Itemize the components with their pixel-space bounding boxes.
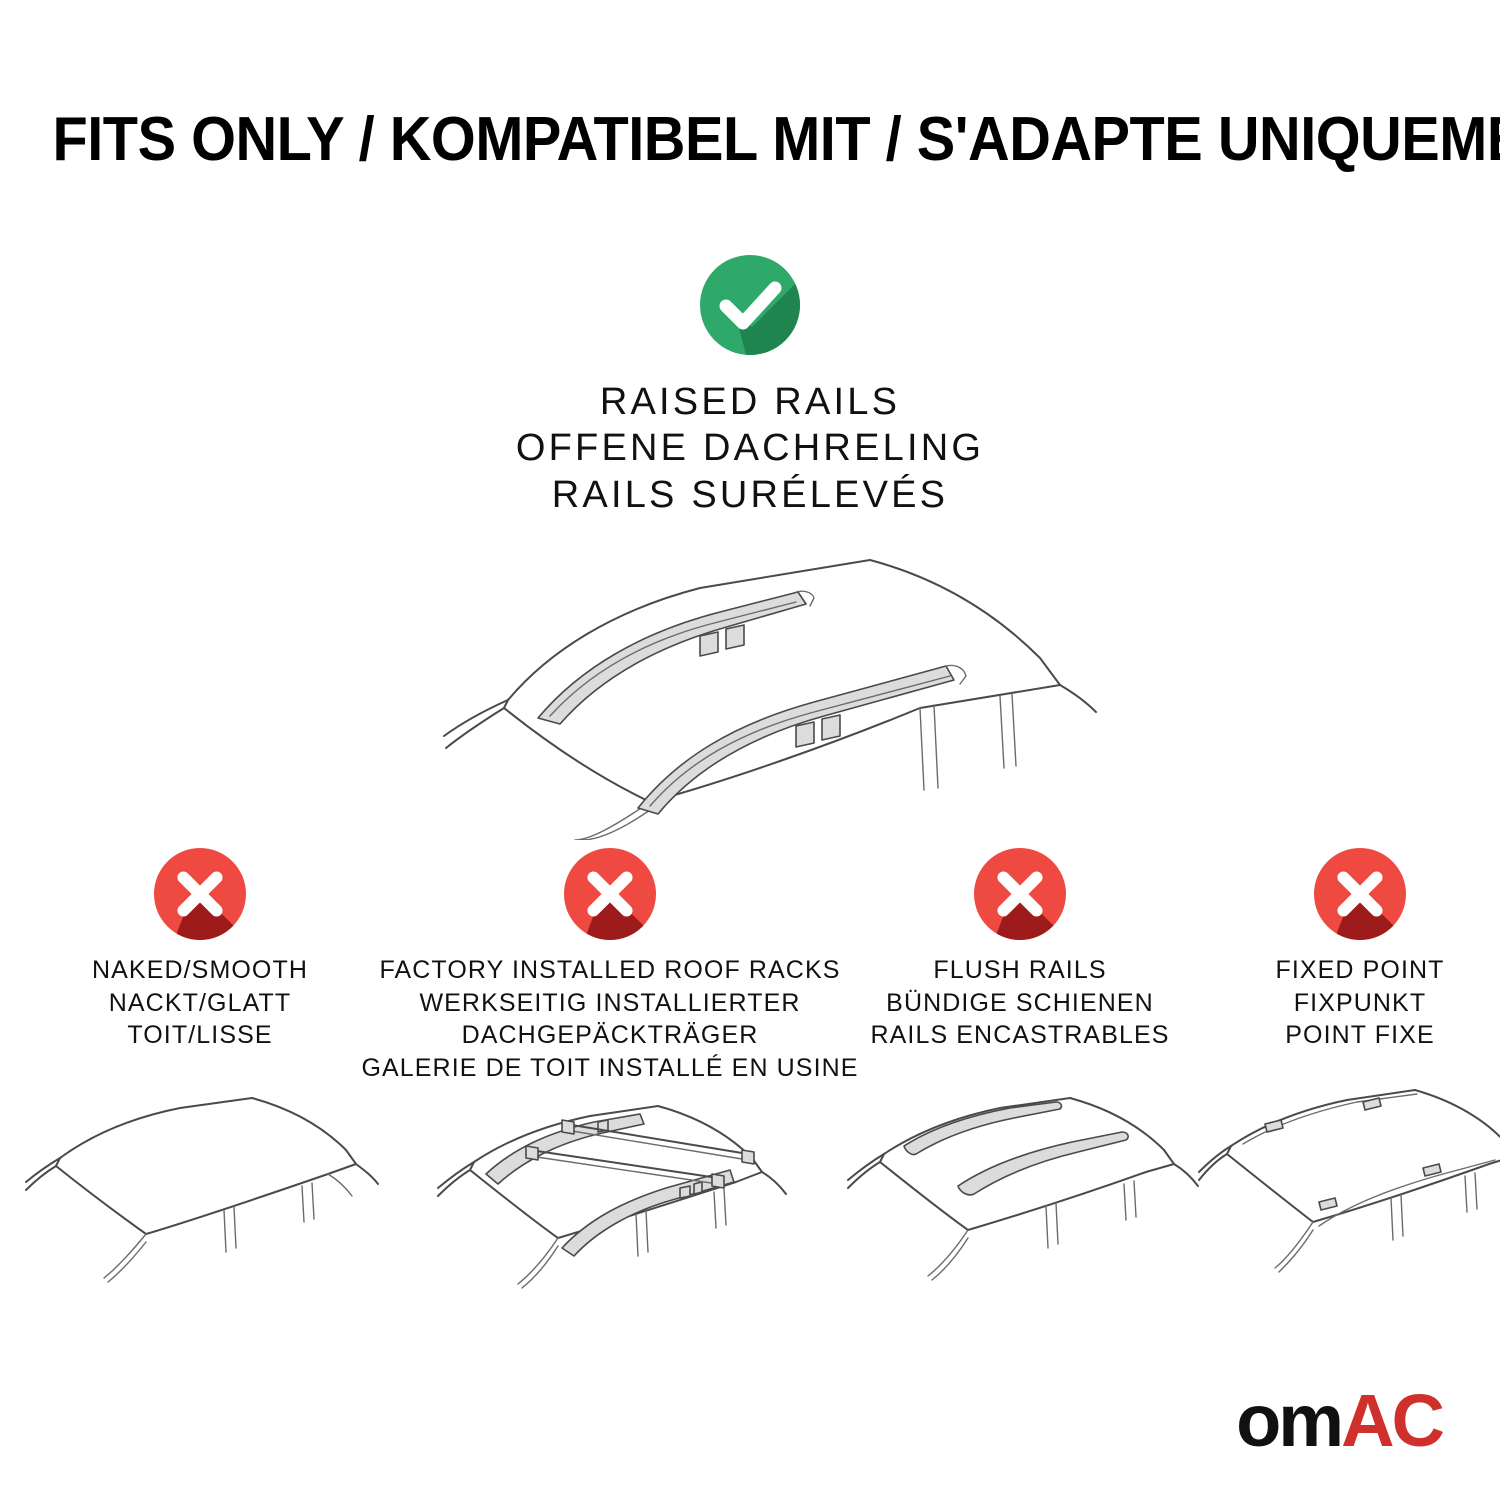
item-label-de-1: WERKSEITIG INSTALLIERTER xyxy=(361,987,858,1020)
x-circle-icon xyxy=(154,848,246,940)
item-label-fr: RAILS ENCASTRABLES xyxy=(870,1019,1169,1052)
item-label-en: FACTORY INSTALLED ROOF RACKS xyxy=(361,954,858,987)
item-label-de: BÜNDIGE SCHIENEN xyxy=(870,987,1169,1020)
item-label-en: NAKED/SMOOTH xyxy=(92,954,308,987)
item-label-en: FLUSH RAILS xyxy=(870,954,1169,987)
omac-logo: omAC xyxy=(1236,1384,1442,1458)
item-label-de: FIXPUNKT xyxy=(1275,987,1444,1020)
item-label-en: FIXED POINT xyxy=(1275,954,1444,987)
item-label-de: NACKT/GLATT xyxy=(92,987,308,1020)
x-circle-icon xyxy=(564,848,656,940)
x-mark-glyph xyxy=(154,848,246,940)
item-label-fr: TOIT/LISSE xyxy=(92,1019,308,1052)
not-compatible-grid: NAKED/SMOOTH NACKT/GLATT TOIT/LISSE xyxy=(0,848,1500,1322)
x-mark-glyph xyxy=(564,848,656,940)
car-roof-flush-rails-illustration xyxy=(840,1080,1200,1310)
check-mark-glyph xyxy=(700,255,800,355)
car-roof-naked-smooth-illustration xyxy=(20,1080,380,1310)
item-label-fr: GALERIE DE TOIT INSTALLÉ EN USINE xyxy=(361,1052,858,1085)
item-labels: NAKED/SMOOTH NACKT/GLATT TOIT/LISSE xyxy=(92,954,308,1072)
infographic-page: FITS ONLY / KOMPATIBEL MIT / S'ADAPTE UN… xyxy=(0,0,1500,1500)
x-mark-glyph xyxy=(974,848,1066,940)
item-label-fr: POINT FIXE xyxy=(1275,1019,1444,1052)
car-roof-with-raised-rails-illustration xyxy=(400,540,1100,840)
not-compatible-item-fixed-point: FIXED POINT FIXPUNKT POINT FIXE xyxy=(1220,848,1500,1310)
x-circle-icon xyxy=(1314,848,1406,940)
approved-label-de: OFFENE DACHRELING xyxy=(516,425,984,471)
page-title: FITS ONLY / KOMPATIBEL MIT / S'ADAPTE UN… xyxy=(53,104,1448,175)
not-compatible-item-flush-rails: FLUSH RAILS BÜNDIGE SCHIENEN RAILS ENCAS… xyxy=(820,848,1220,1310)
approved-label-fr: RAILS SURÉLEVÉS xyxy=(516,472,984,518)
not-compatible-item-naked-smooth: NAKED/SMOOTH NACKT/GLATT TOIT/LISSE xyxy=(0,848,400,1310)
not-compatible-item-factory-roof-rack: FACTORY INSTALLED ROOF RACKS WERKSEITIG … xyxy=(400,848,820,1322)
item-labels: FIXED POINT FIXPUNKT POINT FIXE xyxy=(1275,954,1444,1072)
x-mark-glyph xyxy=(1314,848,1406,940)
logo-text-ac: AC xyxy=(1341,1379,1442,1462)
car-roof-fixed-point-illustration xyxy=(1195,1080,1500,1310)
approved-labels: RAISED RAILS OFFENE DACHRELING RAILS SUR… xyxy=(516,379,984,518)
logo-text-om: om xyxy=(1236,1379,1341,1462)
item-label-de-2: DACHGEPÄCKTRÄGER xyxy=(361,1019,858,1052)
approved-label-en: RAISED RAILS xyxy=(516,379,984,425)
x-circle-icon xyxy=(974,848,1066,940)
item-labels: FLUSH RAILS BÜNDIGE SCHIENEN RAILS ENCAS… xyxy=(870,954,1169,1072)
check-circle-icon xyxy=(700,255,800,355)
approved-section: RAISED RAILS OFFENE DACHRELING RAILS SUR… xyxy=(0,255,1500,840)
car-roof-factory-roof-rack-illustration xyxy=(430,1092,790,1322)
item-labels: FACTORY INSTALLED ROOF RACKS WERKSEITIG … xyxy=(361,954,858,1084)
